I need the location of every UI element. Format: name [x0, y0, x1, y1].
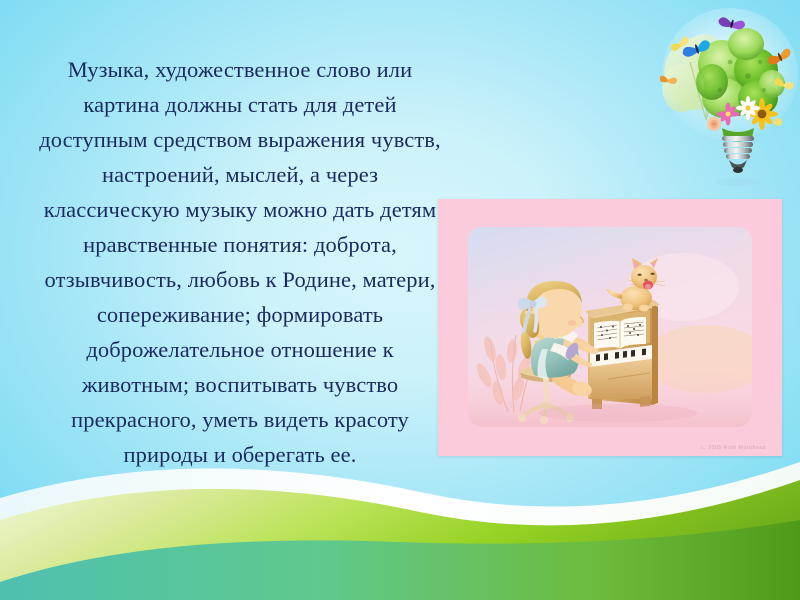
illustration-card: c. 2005 Ruth Morehead	[438, 199, 782, 456]
butterfly-yellow-2	[669, 35, 690, 52]
butterfly-orange-small	[660, 74, 678, 84]
presentation-slide: Музыка, художественное слово или картина…	[0, 0, 800, 600]
flowers	[707, 96, 782, 131]
girl-playing-piano-with-kitten-artwork	[468, 227, 752, 427]
eco-lightbulb-tree-butterflies-icon	[660, 2, 800, 188]
bulb-base	[716, 128, 760, 186]
piano	[585, 300, 660, 409]
butterfly-purple	[717, 15, 746, 31]
butterfly-orange	[766, 47, 793, 66]
green-wave-footer	[0, 450, 800, 600]
butterfly-yellow-1	[773, 77, 795, 91]
slide-body-text: Музыка, художественное слово или картина…	[34, 52, 446, 472]
illustration-image	[468, 227, 752, 427]
butterfly-blue	[681, 39, 712, 58]
